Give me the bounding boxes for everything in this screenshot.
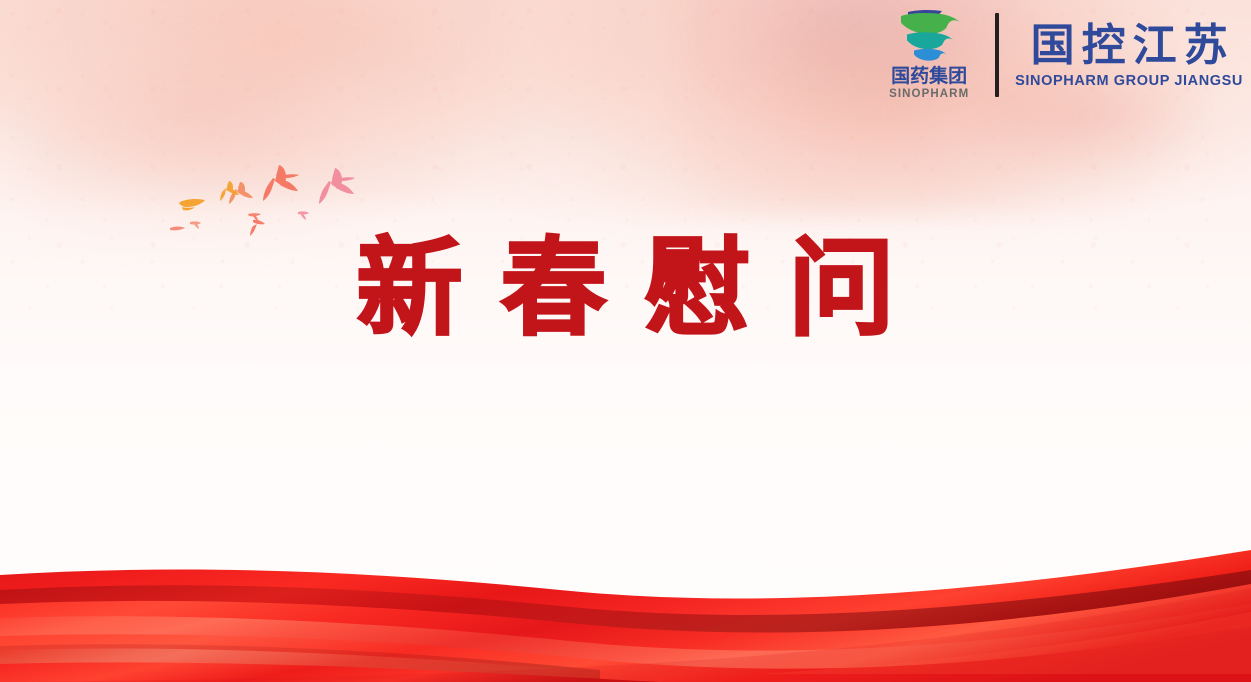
logo-lockup: 国药集团 SINOPHARM 国控江苏 SINOPHARM GROUP JIAN… <box>879 6 1243 104</box>
page-title: 新春慰问 <box>319 232 933 346</box>
headline-block: 新春慰问 <box>0 232 1251 346</box>
red-silk-ribbon <box>0 542 1251 682</box>
sinopharm-logo-en: SINOPHARM <box>889 88 969 102</box>
jiangsu-logo-en: SINOPHARM GROUP JIANGSU <box>1015 73 1243 90</box>
greeting-poster: 国药集团 SINOPHARM 国控江苏 SINOPHARM GROUP JIAN… <box>0 0 1251 682</box>
sinopharm-ribbon-mark <box>892 9 966 65</box>
logo-divider <box>995 13 999 97</box>
jiangsu-logo-cn: 国控江苏 <box>1024 23 1235 70</box>
jiangsu-logo: 国控江苏 SINOPHARM GROUP JIANGSU <box>1015 19 1243 90</box>
sinopharm-logo-cn: 国药集团 <box>891 67 967 87</box>
sinopharm-logo: 国药集团 SINOPHARM <box>879 9 991 102</box>
